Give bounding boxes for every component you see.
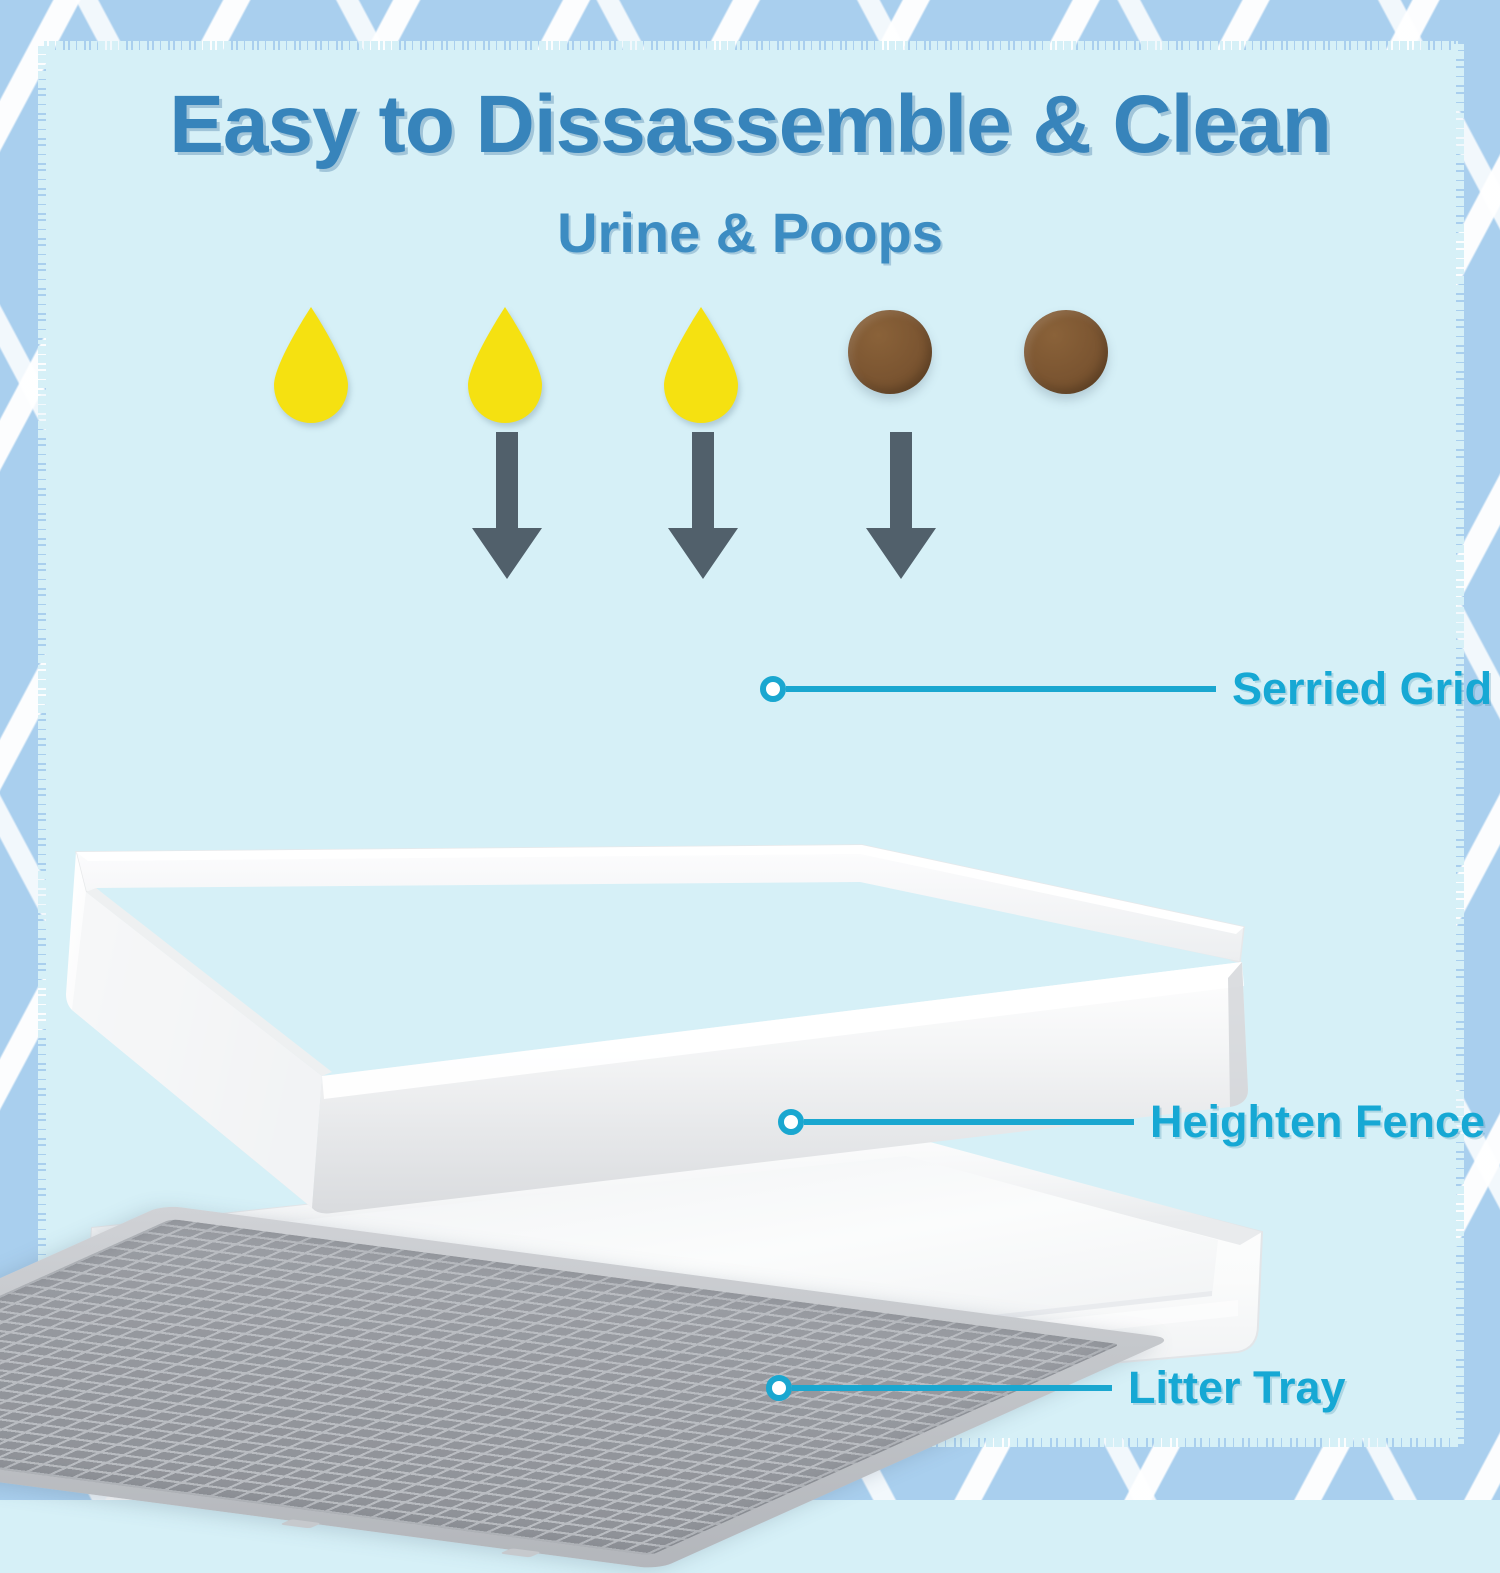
callout-leader-line [804,1119,1134,1125]
infographic-stage: Easy to Dissassemble & Clean Urine & Poo… [0,0,1500,1500]
grid-tab-2 [280,1519,322,1528]
grid-tab-3 [500,1548,542,1557]
callout-litter-tray: Litter Tray [766,1362,1346,1414]
callout-dot-icon [760,676,786,702]
callout-leader-line [786,686,1216,692]
serried-grid-part [78,590,1243,890]
callout-heighten-fence: Heighten Fence [778,1096,1485,1148]
callout-serried-grid: Serried Grid [760,663,1492,715]
callout-label-serried-grid: Serried Grid [1232,663,1492,715]
callout-label-litter-tray: Litter Tray [1128,1362,1346,1414]
exploded-product-assembly [0,0,1500,1500]
callout-dot-icon [778,1109,804,1135]
callout-label-heighten-fence: Heighten Fence [1150,1096,1485,1148]
callout-dot-icon [766,1375,792,1401]
callout-leader-line [792,1385,1112,1391]
